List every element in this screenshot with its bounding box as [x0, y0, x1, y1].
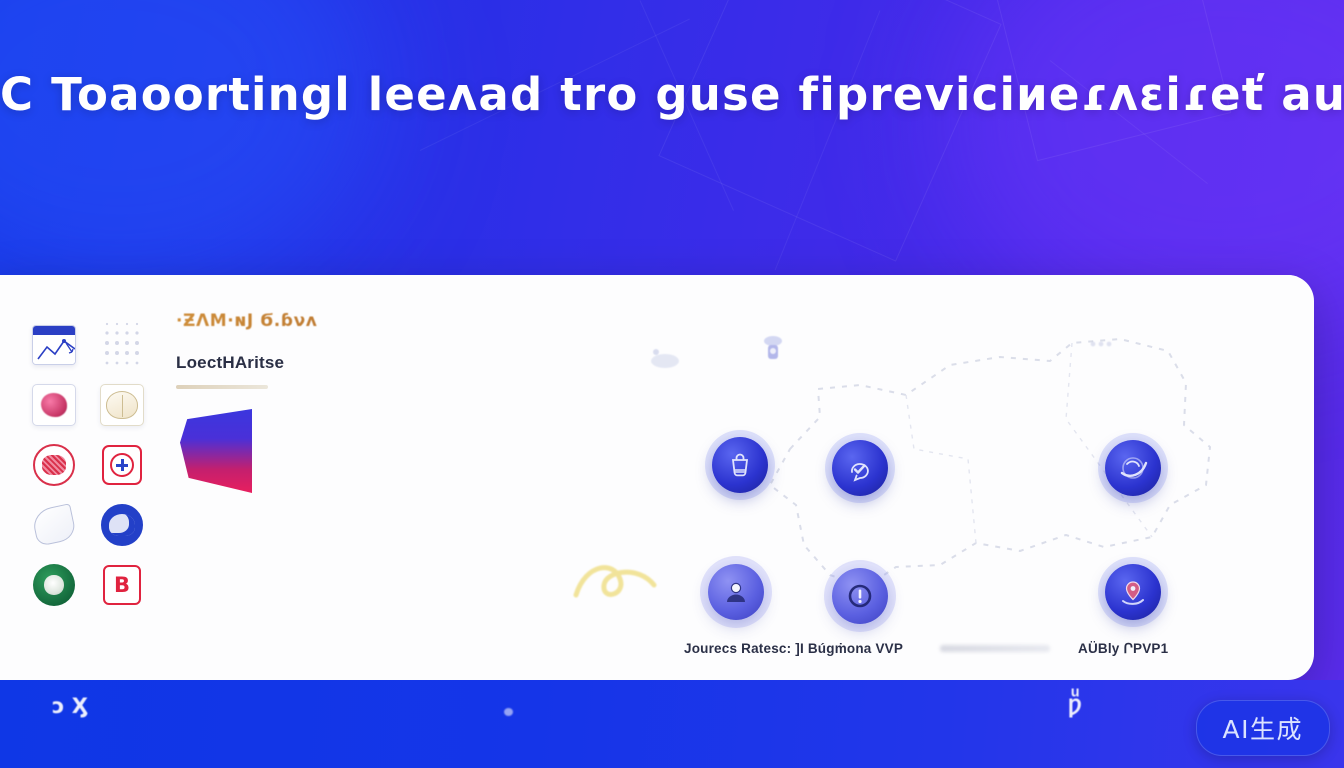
pin-marker-icon	[1120, 578, 1146, 606]
badge-shield-bag[interactable]	[712, 437, 768, 493]
left-icon-panel: B	[0, 293, 170, 680]
badge-label-left: Jourecs Ratesc: ]I Búgṁona VVP	[684, 641, 903, 656]
icon-cell[interactable]	[88, 435, 156, 495]
strip-glyph-right: Ƿͧ	[1068, 694, 1082, 719]
badge-alert-info[interactable]	[832, 568, 888, 624]
pin-glyph	[758, 333, 788, 367]
red-box-b-icon: B	[100, 563, 144, 607]
icon-cell[interactable]: B	[88, 555, 156, 615]
funnel-chart	[180, 409, 252, 493]
badge-globe-swoosh[interactable]	[1105, 440, 1161, 496]
mid-kicker-text: ·ƵΛΜ·ɴJ Ϭ.ɓνʌ	[176, 311, 640, 331]
strip-glyph-left: ɔ Ӽ	[52, 694, 88, 718]
page-title: C Toaoortingl leeʌad tro guse fipreviciᴎ…	[0, 68, 1344, 121]
badge-user-avatar[interactable]	[708, 564, 764, 620]
dots-glyph	[1088, 335, 1114, 353]
green-circle-spark-icon	[32, 563, 76, 607]
mini-blob-left-icon	[648, 345, 682, 376]
globe-swoosh-icon	[1118, 453, 1148, 483]
dot-grid-icon	[100, 323, 144, 367]
mid-info-panel: ·ƵΛΜ·ɴJ Ϭ.ɓνʌ LoectHAritse	[170, 293, 640, 680]
mini-dot-right-icon	[1088, 335, 1114, 358]
blue-ring-shield-icon	[100, 503, 144, 547]
red-box-b-label: B	[103, 565, 141, 605]
main-content-card: B ·ƵΛΜ·ɴJ Ϭ.ɓνʌ LoectHAritse	[0, 275, 1314, 680]
alert-info-icon	[846, 582, 874, 610]
blob-glyph	[648, 345, 682, 371]
shield-bag-icon	[726, 451, 754, 479]
hero-title-wrap: C Toaoortingl leeʌad tro guse fipreviciᴎ…	[0, 68, 1344, 121]
icon-cell[interactable]	[20, 495, 88, 555]
medical-kit-icon	[100, 443, 144, 487]
badge-label-right: AÜBly ՐPVP1	[1078, 641, 1168, 657]
user-avatar-icon	[723, 579, 749, 605]
cone-outline-icon	[32, 503, 76, 547]
mini-pin-top-icon	[758, 333, 788, 372]
analytics-window-icon	[32, 323, 76, 367]
icon-cell[interactable]	[20, 555, 88, 615]
icon-grid: B	[20, 315, 170, 615]
icon-cell[interactable]	[20, 315, 88, 375]
icon-cell[interactable]	[20, 435, 88, 495]
icon-cell[interactable]	[88, 315, 156, 375]
red-ring-virus-icon	[32, 443, 76, 487]
chat-check-icon	[846, 454, 874, 482]
label-ghost-trail	[940, 645, 1050, 652]
card-inner: B ·ƵΛΜ·ɴJ Ϭ.ɓνʌ LoectHAritse	[0, 275, 1314, 680]
strip-dot-decoration	[504, 708, 513, 716]
pink-cell-card-icon	[32, 383, 76, 427]
badge-chat-check[interactable]	[832, 440, 888, 496]
mid-heading-text: LoectHAritse	[176, 353, 640, 373]
ai-generated-watermark: AI生成	[1196, 700, 1330, 756]
icon-cell[interactable]	[20, 375, 88, 435]
bg-poly-1	[658, 0, 1001, 262]
icon-cell[interactable]	[88, 495, 156, 555]
bg-line-2	[775, 10, 881, 270]
bottom-strip: ɔ Ӽ Ƿͧ	[0, 680, 1344, 768]
bg-glow-left	[0, 0, 380, 300]
brain-outline-icon	[100, 383, 144, 427]
right-map-panel: Jourecs Ratesc: ]I Búgṁona VVP AÜBly ՐPV…	[640, 293, 1314, 680]
badge-pin-marker[interactable]	[1105, 564, 1161, 620]
icon-cell[interactable]	[88, 375, 156, 435]
dot-grid-glyph	[101, 318, 143, 372]
mid-divider-rule	[176, 385, 268, 389]
line-chart-glyph	[33, 335, 76, 365]
